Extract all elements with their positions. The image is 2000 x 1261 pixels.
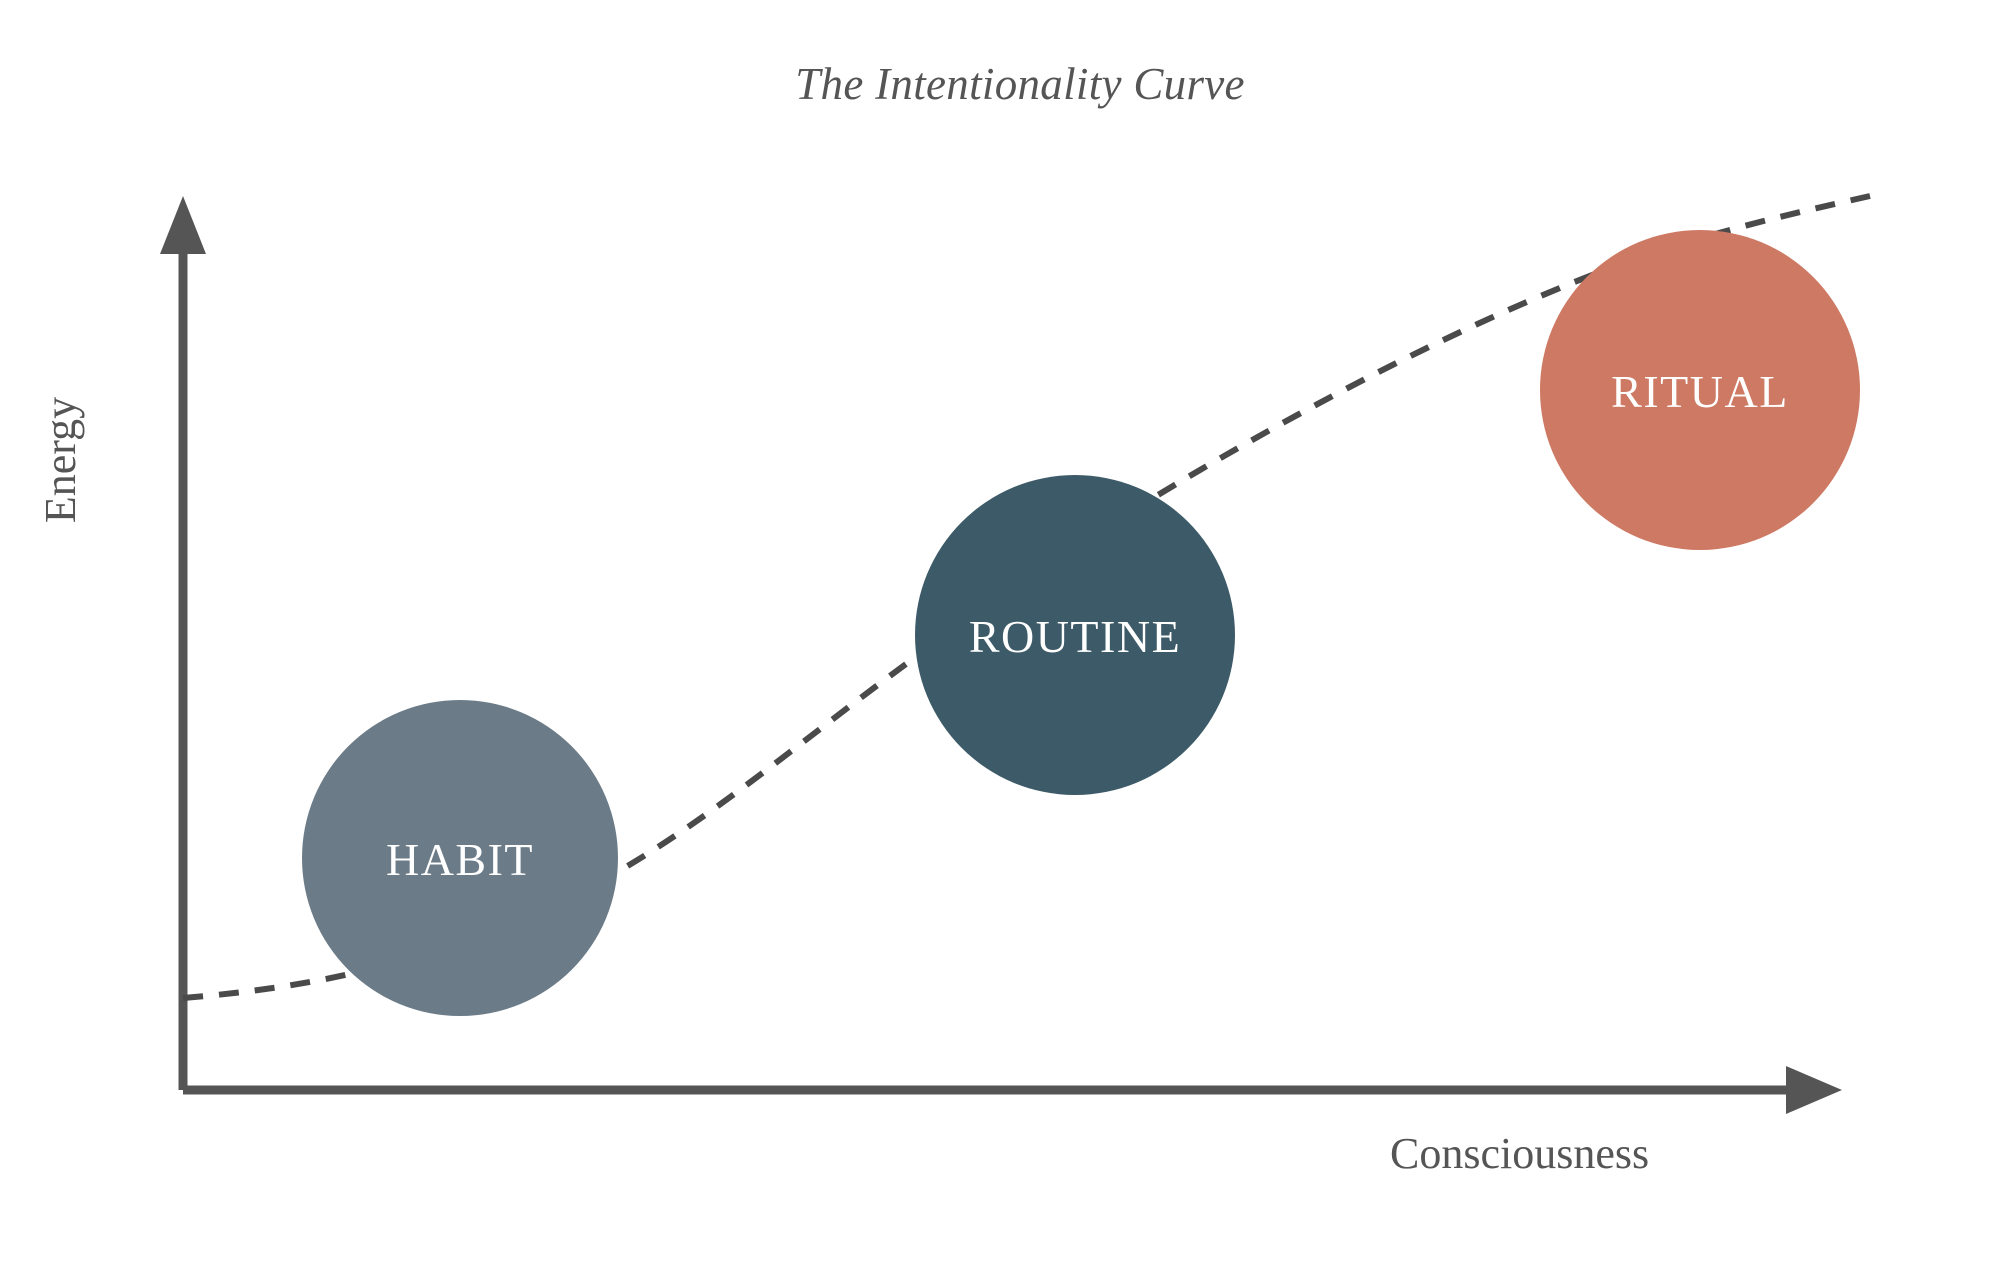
- node-routine[interactable]: [915, 475, 1235, 795]
- y-axis-label: Energy: [35, 345, 86, 575]
- page-title: The Intentionality Curve: [0, 58, 2000, 110]
- x-axis-arrow-icon: [1786, 1066, 1842, 1114]
- node-habit[interactable]: [302, 700, 618, 1016]
- x-axis-label: Consciousness: [1390, 1128, 1649, 1179]
- y-axis-arrow-icon: [160, 196, 206, 254]
- node-ritual[interactable]: [1540, 230, 1860, 550]
- diagram-canvas: The Intentionality Curve Energy Consciou…: [0, 0, 2000, 1261]
